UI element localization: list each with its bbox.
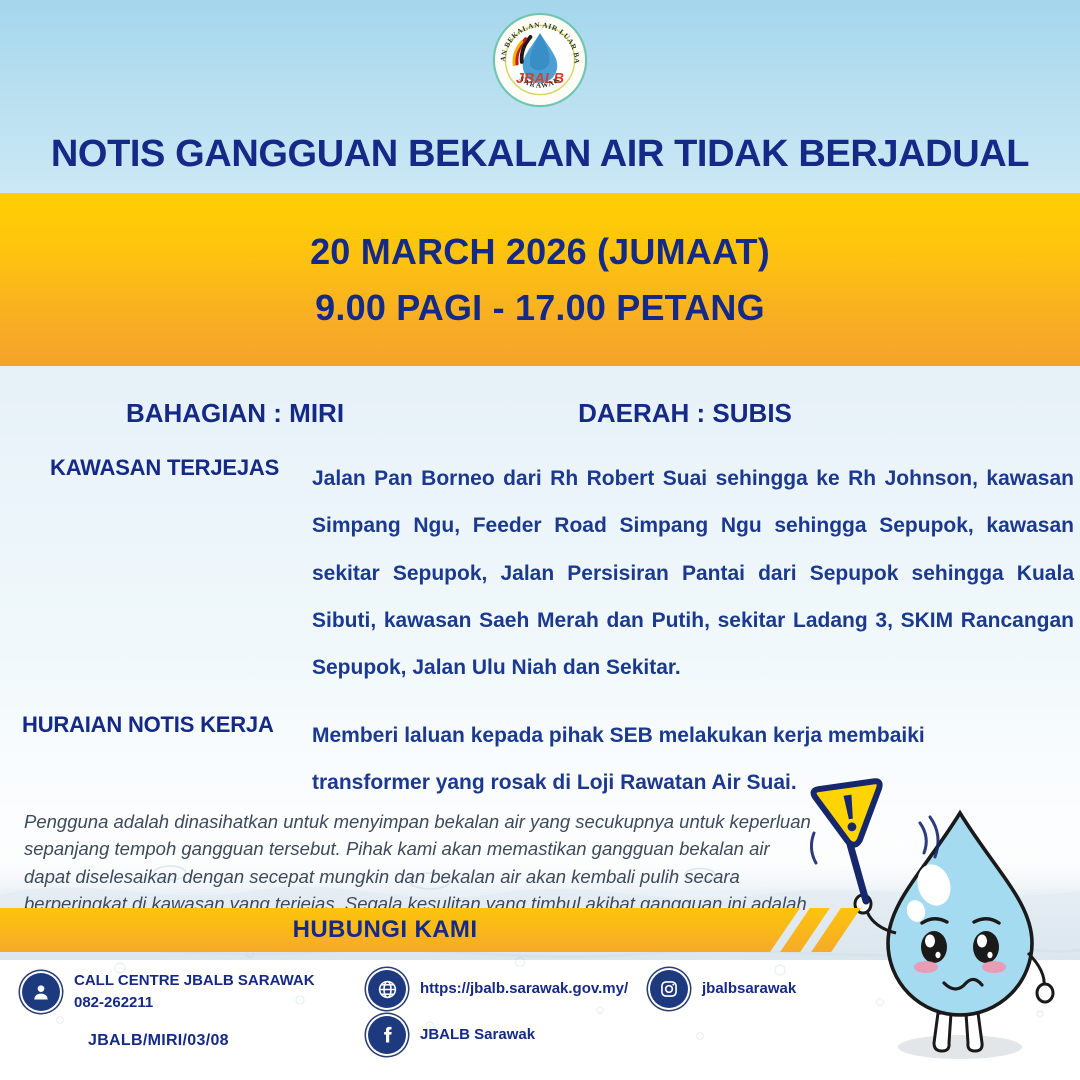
- contact-banner-title: HUBUNGI KAMI: [293, 916, 478, 944]
- division-label: BAHAGIAN : MIRI: [0, 398, 470, 429]
- contact-website[interactable]: https://jbalb.sarawak.gov.my/: [368, 970, 628, 1008]
- jbalb-logo-icon: JBALB JABATAN BEKALAN AIR LUAR BANDAR SA…: [492, 12, 588, 108]
- notice-poster: JBALB JABATAN BEKALAN AIR LUAR BANDAR SA…: [0, 0, 1080, 1080]
- facebook-icon: [368, 1016, 406, 1054]
- website-url: https://jbalb.sarawak.gov.my/: [420, 978, 628, 1000]
- affected-areas-label: KAWASAN TERJEJAS: [50, 455, 279, 481]
- instagram-handle: jbalbsarawak: [702, 978, 796, 1000]
- affected-areas-text: Jalan Pan Borneo dari Rh Robert Suai seh…: [312, 455, 1074, 691]
- region-row: BAHAGIAN : MIRI DAERAH : SUBIS: [0, 398, 1080, 429]
- logo-container: JBALB JABATAN BEKALAN AIR LUAR BANDAR SA…: [0, 12, 1080, 108]
- work-description-label: HURAIAN NOTIS KERJA: [22, 712, 274, 738]
- contact-call-centre[interactable]: CALL CENTRE JBALB SARAWAK 082-262211: [22, 970, 315, 1014]
- notice-date: 20 MARCH 2026 (JUMAAT): [310, 224, 770, 280]
- contacts-row: CALL CENTRE JBALB SARAWAK 082-262211 htt…: [0, 962, 1080, 1080]
- page-title: NOTIS GANGGUAN BEKALAN AIR TIDAK BERJADU…: [0, 133, 1080, 176]
- facebook-name: JBALB Sarawak: [420, 1024, 535, 1046]
- globe-icon: [368, 970, 406, 1008]
- instagram-icon: [650, 970, 688, 1008]
- contact-banner-wrap: HUBUNGI KAMI: [0, 908, 1080, 956]
- contact-banner: HUBUNGI KAMI: [0, 908, 800, 952]
- contact-instagram[interactable]: jbalbsarawak: [650, 970, 796, 1008]
- call-centre-number: 082-262211: [74, 992, 315, 1014]
- date-time-band: 20 MARCH 2026 (JUMAAT) 9.00 PAGI - 17.00…: [0, 193, 1080, 366]
- person-icon: [22, 973, 60, 1011]
- call-centre-label: CALL CENTRE JBALB SARAWAK: [74, 972, 315, 989]
- district-label: DAERAH : SUBIS: [470, 398, 900, 429]
- reference-number: JBALB/MIRI/03/08: [88, 1032, 229, 1050]
- header-band: JBALB JABATAN BEKALAN AIR LUAR BANDAR SA…: [0, 0, 1080, 193]
- contact-facebook[interactable]: JBALB Sarawak: [368, 1016, 535, 1054]
- notice-time: 9.00 PAGI - 17.00 PETANG: [315, 280, 765, 336]
